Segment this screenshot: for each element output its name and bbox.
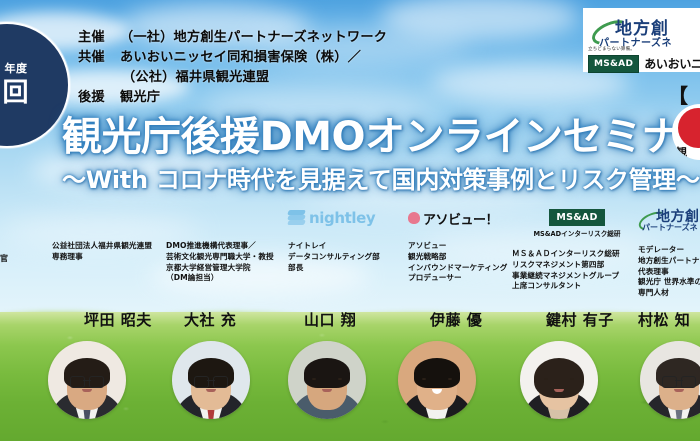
speaker-org: DMO推進機構代表理事／ 芸術文化観光専門職大学・教授 京都大学経営管理大学院 … (166, 241, 274, 284)
photo-eye (422, 378, 426, 380)
speaker-name: 村松 知 (638, 309, 690, 330)
speaker-org: アソビュー 観光戦略部 インバウンドマーケティング プロデューサー (408, 241, 507, 284)
msad-interrisk-logo: MS&AD MS&ADインターリスク総研 (512, 205, 642, 231)
bracket-glyph: 【 (668, 80, 688, 109)
photo-mouth (554, 389, 564, 392)
cjp-small-sub: パートナーズネ (642, 222, 698, 233)
glasses-icon (662, 376, 696, 386)
msad-tagline: 立ちどまらない算備。 (588, 46, 700, 52)
red-circle-icon (678, 108, 700, 148)
msad-logo: MS&AD (588, 55, 639, 73)
balloon-icon (408, 212, 420, 226)
org-line: インバウンドマーケティング (408, 263, 507, 274)
org-line: （DM論担当） (166, 273, 274, 284)
nightley-wordmark: nightley (309, 209, 375, 227)
speaker-photo (520, 341, 598, 419)
credits-block: 主催（一社）地方創生パートナーズネットワーク 共催あいおいニッセイ同和損害保険（… (78, 28, 387, 108)
org-line: 部長 (288, 263, 380, 274)
badge-number-label: 回 (2, 80, 29, 107)
photo-mouth (206, 389, 216, 392)
photo-mouth (322, 389, 332, 392)
credit-label: 主催 (78, 28, 120, 48)
aioi-nissay-text: あいおいニッ (644, 55, 700, 72)
speaker-name: 坪田 昭夫 (84, 309, 152, 330)
org-line: 京都大学経営管理大学院 (166, 263, 274, 274)
speaker-photo (172, 341, 250, 419)
org-line: 観光庁 世界水準の (638, 277, 700, 288)
speaker-photo (398, 341, 476, 419)
credit-line: （公社）福井県観光連盟 (78, 68, 387, 88)
org-line: 事業継続マネジメントグループ (512, 271, 620, 282)
photo-hair (414, 358, 460, 388)
credit-line: 主催（一社）地方創生パートナーズネットワーク (78, 28, 387, 48)
speaker-name: 山口 翔 (304, 309, 356, 330)
msad-logo-caption: MS&ADインターリスク総研 (512, 228, 642, 238)
asoview-logo-inner: アソビュー！ (408, 208, 498, 228)
msad-aioi-logo-row: 立ちどまらない算備。 MS&ADあいおいニッ (588, 46, 700, 73)
msad-logo-box: MS&AD (549, 209, 604, 226)
photo-mouth (674, 389, 684, 392)
speaker-name: 鍵村 有子 (546, 309, 614, 330)
org-line: 地方創生パートナー (638, 256, 700, 267)
org-line: ＭＳ＆ＡＤインターリスク総研 (512, 249, 620, 260)
photo-eye (544, 378, 548, 380)
credit-text: あいおいニッセイ同和損害保険（株）／ (120, 50, 361, 65)
org-line: データコンサルティング部 (288, 252, 380, 263)
org-line: 専門人材 (638, 288, 700, 299)
speaker-name: 伊藤 優 (430, 309, 482, 330)
speaker-org: モデレーター 地方創生パートナー 代表理事 観光庁 世界水準の 専門人材 (638, 245, 700, 299)
speaker-photo (288, 341, 366, 419)
credit-label: 共催 (78, 48, 120, 68)
credit-line: 共催あいおいニッセイ同和損害保険（株）／ (78, 48, 387, 68)
speaker-photo (640, 341, 700, 419)
credit-text: （一社）地方創生パートナーズネットワーク (120, 30, 387, 45)
speaker-org: ＭＳ＆ＡＤインターリスク総研 リスクマネジメント第四部 事業継続マネジメントグル… (512, 249, 620, 292)
org-line: プロデューサー (408, 273, 507, 284)
speaker-name: 大社 充 (184, 309, 236, 330)
glasses-icon (194, 376, 228, 386)
org-line: 専務理事 (52, 252, 152, 263)
top-right-logo-panel: 地方創 パートナーズネ 立ちどまらない算備。 MS&ADあいおいニッ (583, 8, 700, 72)
speaker-org: ナイトレイ データコンサルティング部 部長 (288, 241, 380, 273)
speaker-photo (48, 341, 126, 419)
msad-logo-inner: MS&AD MS&ADインターリスク総研 (512, 205, 642, 238)
org-line: リスクマネジメント第四部 (512, 260, 620, 271)
speaker-block: MS&AD MS&ADインターリスク総研 ＭＳ＆ＡＤインターリスク総研 リスクマ… (512, 205, 642, 231)
org-line: アソビュー (408, 241, 507, 252)
photo-eye (312, 378, 316, 380)
poster-subtitle: ～With コロナ時代を見据えて国内対策事例とリスク管理～ (62, 160, 700, 195)
org-line: 上席コンサルタント (512, 281, 620, 292)
credit-text: （公社）福井県観光連盟 (122, 70, 269, 85)
badge-year-label: 年度 (5, 63, 28, 75)
jnto-sub-text: Japan (676, 155, 687, 160)
org-line: ナイトレイ (288, 241, 380, 252)
photo-eye (570, 378, 574, 380)
layers-icon (288, 210, 305, 226)
org-line: 芸術文化観光専門職大学・教授 (166, 252, 274, 263)
speaker-org: 公益社団法人福井県観光連盟 専務理事 (52, 241, 152, 263)
credit-text: 観光庁 (120, 90, 160, 105)
cut-off-left-text: 官 (0, 253, 8, 264)
photo-mouth (82, 389, 92, 392)
org-line: 公益社団法人福井県観光連盟 (52, 241, 152, 252)
org-line: 代表理事 (638, 267, 700, 278)
poster-title: 観光庁後援DMOオンラインセミナー (62, 104, 700, 162)
org-line: モデレーター (638, 245, 700, 256)
photo-eye (338, 378, 342, 380)
nightley-logo-inner: nightley (288, 207, 375, 227)
asoview-wordmark: アソビュー！ (423, 209, 498, 228)
org-line: DMO推進機構代表理事／ (166, 241, 274, 252)
glasses-icon (70, 376, 104, 386)
photo-eye (448, 378, 452, 380)
org-line: 観光戦略部 (408, 252, 507, 263)
photo-hair (304, 358, 350, 388)
seminar-poster: 年度 回 主催（一社）地方創生パートナーズネットワーク 共催あいおいニッセイ同和… (0, 0, 700, 441)
